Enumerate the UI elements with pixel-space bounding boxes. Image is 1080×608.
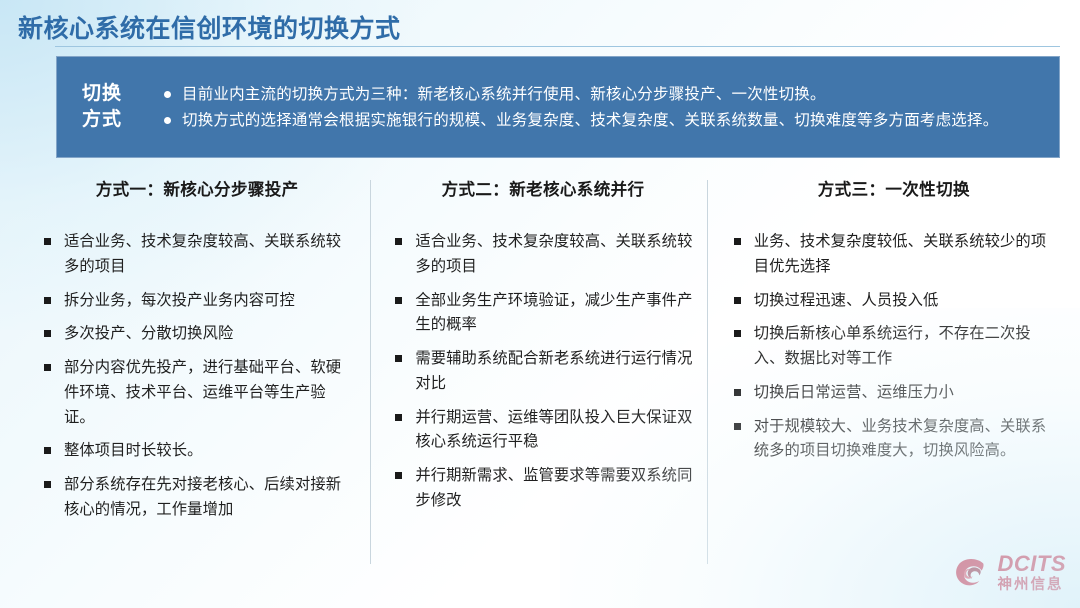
bullet-square-icon xyxy=(44,330,51,337)
list-item: 并行期新需求、监管要求等需要双系统同步修改 xyxy=(393,464,692,514)
column-method-two: 方式二：新老核心系统并行 适合业务、技术复杂度较高、关联系统较多的项目 全部业务… xyxy=(371,176,706,576)
column-heading: 方式一：新核心分步骤投产 xyxy=(42,176,356,200)
list-item-text: 拆分业务，每次投产业务内容可控 xyxy=(64,292,295,309)
list-item-text: 部分系统存在先对接老核心、后续对接新核心的情况，工作量增加 xyxy=(64,476,341,518)
list-item: 业务、技术复杂度较低、关联系统较少的项目优先选择 xyxy=(732,230,1056,280)
bullet-square-icon xyxy=(44,364,51,371)
list-item-text: 切换过程迅速、人员投入低 xyxy=(754,292,939,309)
logo-chinese: 神州信息 xyxy=(998,578,1067,593)
column-heading: 方式三：一次性切换 xyxy=(732,176,1056,200)
comparison-columns: 方式一：新核心分步骤投产 适合业务、技术复杂度较高、关联系统较多的项目 拆分业务… xyxy=(18,176,1066,576)
banner-tag-line2: 方式 xyxy=(82,107,122,133)
banner-bullet-text: 目前业内主流的切换方式为三种：新老核心系统并行使用、新核心分步骤投产、一次性切换… xyxy=(182,86,826,103)
list-item: 整体项目时长较长。 xyxy=(42,439,356,464)
list-item-text: 整体项目时长较长。 xyxy=(64,442,203,459)
list-item: 部分内容优先投产，进行基础平台、软硬件环境、技术平台、运维平台等生产验证。 xyxy=(42,356,356,430)
banner-tag: 切换 方式 xyxy=(56,56,148,158)
list-item: 全部业务生产环境验证，减少生产事件产生的概率 xyxy=(393,289,692,339)
banner-bullet: 目前业内主流的切换方式为三种：新老核心系统并行使用、新核心分步骤投产、一次性切换… xyxy=(162,83,1034,107)
bullet-square-icon xyxy=(44,447,51,454)
list-item-text: 对于规模较大、业务技术复杂度高、关联系统多的项目切换难度大，切换风险高。 xyxy=(754,418,1047,460)
banner-body: 目前业内主流的切换方式为三种：新老核心系统并行使用、新核心分步骤投产、一次性切换… xyxy=(148,56,1060,158)
company-logo: DCITS 神州信息 xyxy=(952,550,1067,596)
logo-text: DCITS 神州信息 xyxy=(998,553,1067,593)
list-item: 并行期运营、运维等团队投入巨大保证双核心系统运行平稳 xyxy=(393,406,692,456)
list-item-text: 适合业务、技术复杂度较高、关联系统较多的项目 xyxy=(415,233,692,275)
bullet-square-icon xyxy=(44,297,51,304)
list-item-text: 业务、技术复杂度较低、关联系统较少的项目优先选择 xyxy=(754,233,1047,275)
summary-banner: 切换 方式 目前业内主流的切换方式为三种：新老核心系统并行使用、新核心分步骤投产… xyxy=(56,56,1060,158)
bullet-square-icon xyxy=(734,330,741,337)
logo-english: DCITS xyxy=(998,553,1067,575)
banner-tag-line1: 切换 xyxy=(82,81,122,107)
column-heading: 方式二：新老核心系统并行 xyxy=(393,176,692,200)
slide-canvas: 新核心系统在信创环境的切换方式 切换 方式 目前业内主流的切换方式为三种：新老核… xyxy=(0,0,1080,608)
title-divider xyxy=(55,46,1060,47)
list-item: 对于规模较大、业务技术复杂度高、关联系统多的项目切换难度大，切换风险高。 xyxy=(732,415,1056,465)
bullet-square-icon xyxy=(395,297,402,304)
list-item-text: 切换后新核心单系统运行，不存在二次投入、数据比对等工作 xyxy=(754,325,1031,367)
list-item-text: 需要辅助系统配合新老系统进行运行情况对比 xyxy=(415,350,692,392)
bullet-dot-icon xyxy=(164,91,171,98)
bullet-square-icon xyxy=(44,238,51,245)
bullet-square-icon xyxy=(734,389,741,396)
column-bullet-list: 业务、技术复杂度较低、关联系统较少的项目优先选择 切换过程迅速、人员投入低 切换… xyxy=(732,230,1056,464)
list-item-text: 多次投产、分散切换风险 xyxy=(64,325,233,342)
bullet-square-icon xyxy=(44,481,51,488)
bullet-square-icon xyxy=(395,472,402,479)
page-title: 新核心系统在信创环境的切换方式 xyxy=(18,9,401,45)
list-item-text: 全部业务生产环境验证，减少生产事件产生的概率 xyxy=(415,292,692,334)
list-item: 适合业务、技术复杂度较高、关联系统较多的项目 xyxy=(42,230,356,280)
list-item: 多次投产、分散切换风险 xyxy=(42,322,356,347)
column-method-one: 方式一：新核心分步骤投产 适合业务、技术复杂度较高、关联系统较多的项目 拆分业务… xyxy=(18,176,370,576)
dcits-swirl-icon xyxy=(952,553,992,593)
list-item: 需要辅助系统配合新老系统进行运行情况对比 xyxy=(393,347,692,397)
list-item: 切换后新核心单系统运行，不存在二次投入、数据比对等工作 xyxy=(732,322,1056,372)
column-method-three: 方式三：一次性切换 业务、技术复杂度较低、关联系统较少的项目优先选择 切换过程迅… xyxy=(708,176,1066,576)
list-item-text: 并行期运营、运维等团队投入巨大保证双核心系统运行平稳 xyxy=(415,409,692,451)
bullet-square-icon xyxy=(395,238,402,245)
bullet-square-icon xyxy=(395,414,402,421)
list-item-text: 并行期新需求、监管要求等需要双系统同步修改 xyxy=(415,467,692,509)
list-item-text: 切换后日常运营、运维压力小 xyxy=(754,384,954,401)
list-item: 切换过程迅速、人员投入低 xyxy=(732,289,1056,314)
list-item: 拆分业务，每次投产业务内容可控 xyxy=(42,289,356,314)
list-item: 切换后日常运营、运维压力小 xyxy=(732,381,1056,406)
column-bullet-list: 适合业务、技术复杂度较高、关联系统较多的项目 拆分业务，每次投产业务内容可控 多… xyxy=(42,230,356,523)
bullet-square-icon xyxy=(734,297,741,304)
list-item-text: 部分内容优先投产，进行基础平台、软硬件环境、技术平台、运维平台等生产验证。 xyxy=(64,359,341,426)
list-item-text: 适合业务、技术复杂度较高、关联系统较多的项目 xyxy=(64,233,341,275)
bullet-square-icon xyxy=(734,423,741,430)
bullet-square-icon xyxy=(734,238,741,245)
banner-bullet: 切换方式的选择通常会根据实施银行的规模、业务复杂度、技术复杂度、关联系统数量、切… xyxy=(162,109,1034,133)
bullet-dot-icon xyxy=(164,117,171,124)
banner-bullet-text: 切换方式的选择通常会根据实施银行的规模、业务复杂度、技术复杂度、关联系统数量、切… xyxy=(182,112,998,129)
column-bullet-list: 适合业务、技术复杂度较高、关联系统较多的项目 全部业务生产环境验证，减少生产事件… xyxy=(393,230,692,514)
bullet-square-icon xyxy=(395,355,402,362)
list-item: 部分系统存在先对接老核心、后续对接新核心的情况，工作量增加 xyxy=(42,473,356,523)
list-item: 适合业务、技术复杂度较高、关联系统较多的项目 xyxy=(393,230,692,280)
